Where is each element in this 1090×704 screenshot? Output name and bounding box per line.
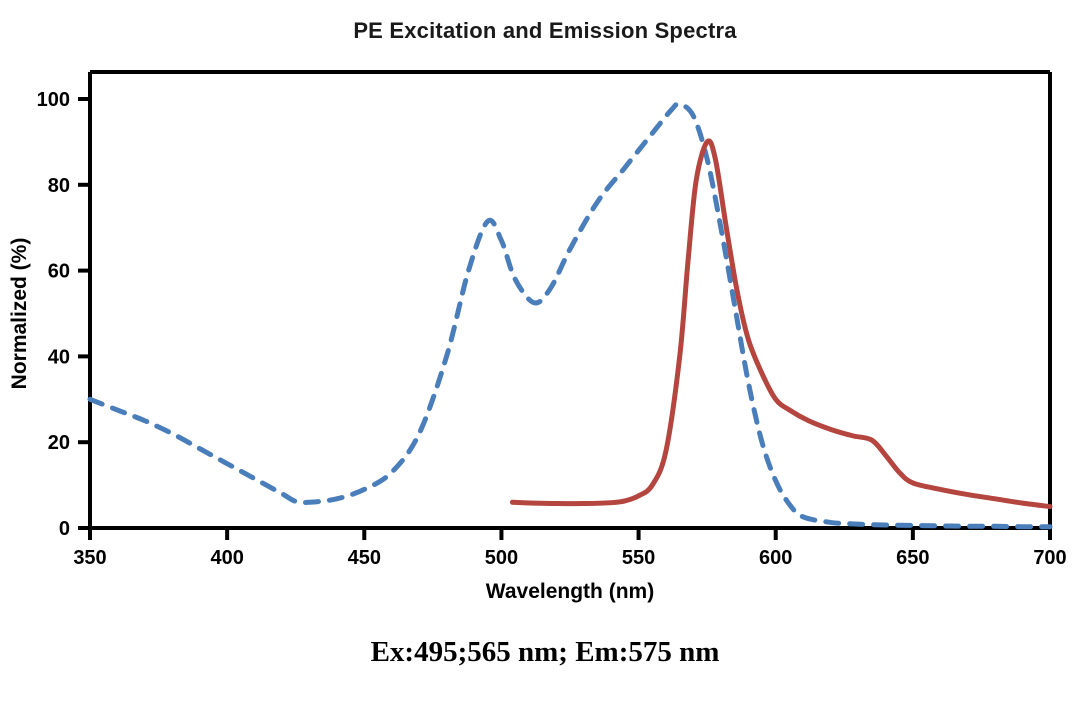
x-axis-tick-label: 500 bbox=[485, 547, 518, 569]
x-axis-tick-label: 450 bbox=[348, 547, 381, 569]
chart-caption: Ex:495;565 nm; Em:575 nm bbox=[0, 636, 1090, 669]
x-axis-tick-label: 600 bbox=[759, 547, 792, 569]
y-axis-tick-label: 40 bbox=[48, 346, 70, 368]
x-axis-tick-label: 350 bbox=[73, 547, 106, 569]
series-line-emission bbox=[512, 141, 1050, 507]
y-axis-tick-label: 0 bbox=[59, 518, 70, 540]
x-axis-tick-label: 550 bbox=[622, 547, 655, 569]
y-axis-tick-label: 80 bbox=[48, 175, 70, 197]
series-line-excitation bbox=[90, 104, 1050, 527]
x-axis-label: Wavelength (nm) bbox=[486, 580, 654, 603]
x-axis-tick-label: 700 bbox=[1033, 547, 1066, 569]
chart-page: PE Excitation and Emission Spectra 02040… bbox=[0, 0, 1090, 704]
x-axis-tick-label: 650 bbox=[896, 547, 929, 569]
y-axis-tick-label: 100 bbox=[37, 89, 70, 111]
y-axis-tick-label: 20 bbox=[48, 432, 70, 454]
x-axis-tick-label: 400 bbox=[210, 547, 243, 569]
spectra-plot: 020406080100350400450500550600650700Wave… bbox=[0, 0, 1090, 704]
y-axis-tick-label: 60 bbox=[48, 261, 70, 283]
y-axis-label: Normalized (%) bbox=[8, 238, 31, 390]
